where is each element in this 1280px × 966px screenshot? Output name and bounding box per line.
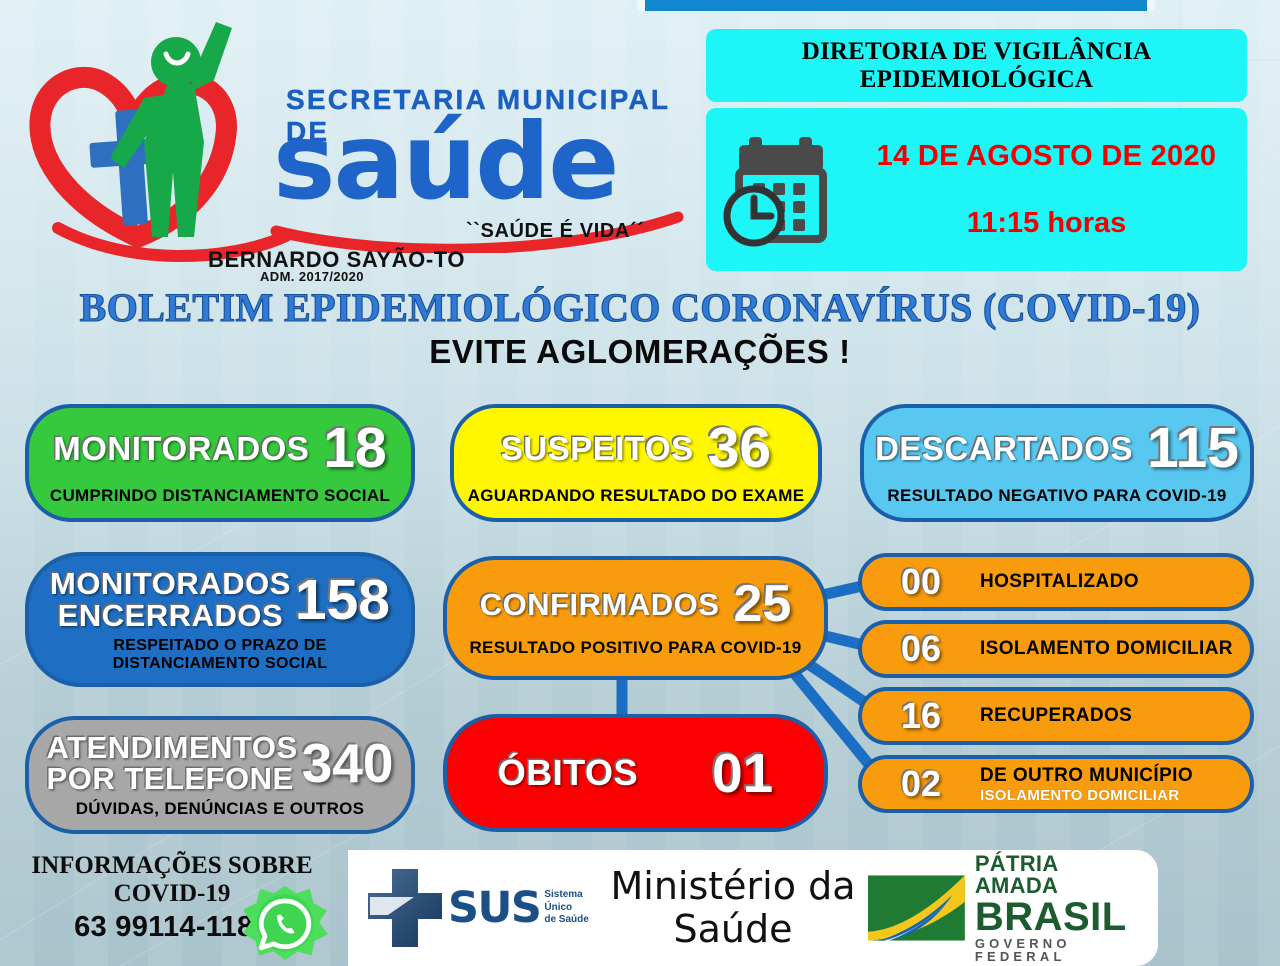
atendimentos-value: 340 <box>302 731 394 795</box>
breakdown-pill-outro-municipio[interactable]: 02 DE OUTRO MUNICÍPIO ISOLAMENTO DOMICIL… <box>858 755 1254 813</box>
sus-cross-icon <box>366 867 444 949</box>
atendimentos-label-line1: ATENDIMENTOS <box>47 730 298 765</box>
breakdown-label-3: DE OUTRO MUNICÍPIO <box>980 765 1250 787</box>
directorate-text: DIRETORIA DE VIGILÂNCIA EPIDEMIOLÓGICA <box>706 38 1247 94</box>
confirmados-value: 25 <box>733 578 791 630</box>
whatsapp-icon[interactable] <box>236 882 334 962</box>
date-time-box: 14 DE AGOSTO DE 2020 11:15 horas <box>706 108 1247 271</box>
breakdown-pill-isolamento-domiciliar[interactable]: 06 ISOLAMENTO DOMICILIAR <box>858 620 1254 678</box>
breakdown-pill-hospitalizado[interactable]: 00 HOSPITALIZADO <box>858 553 1254 611</box>
sus-wordmark: SUS <box>448 883 540 933</box>
breakdown-label-2: RECUPERADOS <box>980 705 1250 727</box>
logo-saude-text: saúde <box>273 110 617 215</box>
atendimentos-label-line2: POR TELEFONE <box>47 761 294 796</box>
breakdown-pill-recuperados[interactable]: 16 RECUPERADOS <box>858 687 1254 745</box>
page-subtitle: EVITE AGLOMERAÇÕES ! <box>0 333 1280 371</box>
encerrados-value: 158 <box>295 567 390 633</box>
suspeitos-value: 36 <box>708 420 771 477</box>
atendimentos-sublabel: DÚVIDAS, DENÚNCIAS E OUTROS <box>39 799 401 818</box>
contact-line1: INFORMAÇÕES SOBRE <box>22 852 322 880</box>
descartados-label: DESCARTADOS <box>875 432 1133 465</box>
encerrados-label-line1: MONITORADOS <box>50 566 291 601</box>
confirmados-sublabel: RESULTADO POSITIVO PARA COVID-19 <box>457 638 814 657</box>
logo-administration: ADM. 2017/2020 <box>260 269 364 284</box>
bulletin-time: 11:15 horas <box>858 207 1235 240</box>
stat-card-monitorados[interactable]: MONITORADOS 18 CUMPRINDO DISTANCIAMENTO … <box>25 404 415 522</box>
confirmados-label: CONFIRMADOS <box>480 589 720 620</box>
breakdown-value-3: 02 <box>862 763 980 805</box>
footer-logos: SUS Sistema Único de Saúde Ministério da… <box>348 850 1158 966</box>
logo-slogan: ``SAÚDE É VIDA´´ <box>466 220 645 243</box>
breakdown-sublabel-3: ISOLAMENTO DOMICILIAR <box>980 787 1250 804</box>
breakdown-value-2: 16 <box>862 695 980 737</box>
obitos-value: 01 <box>712 746 773 801</box>
encerrados-sublabel-line2: DISTANCIAMENTO SOCIAL <box>113 655 328 672</box>
encerrados-sublabel-line1: RESPEITADO O PRAZO DE <box>113 637 326 654</box>
brasil-line3: GOVERNO FEDERAL <box>975 937 1146 963</box>
ministry-of-health-text: Ministério da Saúde <box>598 865 868 950</box>
sus-sub-line1: Sistema <box>544 889 588 902</box>
descartados-sublabel: RESULTADO NEGATIVO PARA COVID-19 <box>874 486 1240 505</box>
obitos-label: ÓBITOS <box>498 755 638 791</box>
stat-card-atendimentos[interactable]: ATENDIMENTOS POR TELEFONE 340 DÚVIDAS, D… <box>25 716 415 834</box>
sus-sub-line2: Único <box>544 902 588 915</box>
directorate-box: DIRETORIA DE VIGILÂNCIA EPIDEMIOLÓGICA <box>706 29 1247 102</box>
calendar-clock-icon <box>706 131 858 249</box>
breakdown-value-1: 06 <box>862 628 980 670</box>
monitorados-label: MONITORADOS <box>53 432 309 465</box>
governo-federal-logo: PÁTRIA AMADA BRASIL GOVERNO FEDERAL <box>868 853 1158 964</box>
descartados-value: 115 <box>1147 420 1239 477</box>
page-title: BOLETIM EPIDEMIOLÓGICO CORONAVÍRUS (COVI… <box>0 284 1280 331</box>
breakdown-label-1: ISOLAMENTO DOMICILIAR <box>980 638 1250 660</box>
secretaria-logo: SECRETARIA MUNICIPAL DE saúde ``SAÚDE É … <box>18 22 708 277</box>
ministry-line1: Ministério da <box>598 865 868 908</box>
brasil-line2: BRASIL <box>975 897 1146 938</box>
suspeitos-label: SUSPEITOS <box>501 432 694 465</box>
sus-sub-line3: de Saúde <box>544 914 588 927</box>
monitorados-value: 18 <box>323 420 386 477</box>
top-accent-bar <box>637 0 1155 11</box>
breakdown-value-0: 00 <box>862 561 980 603</box>
stat-card-monitorados-encerrados[interactable]: MONITORADOS ENCERRADOS 158 RESPEITADO O … <box>25 552 415 687</box>
stat-card-descartados[interactable]: DESCARTADOS 115 RESULTADO NEGATIVO PARA … <box>860 404 1254 522</box>
brasil-flag-icon <box>868 871 965 945</box>
breakdown-label-0: HOSPITALIZADO <box>980 571 1250 593</box>
monitorados-sublabel: CUMPRINDO DISTANCIAMENTO SOCIAL <box>39 486 401 505</box>
stat-card-obitos[interactable]: ÓBITOS 01 <box>443 714 828 832</box>
ministry-line2: Saúde <box>598 908 868 951</box>
bulletin-date: 14 DE AGOSTO DE 2020 <box>858 140 1235 173</box>
brasil-line1: PÁTRIA AMADA <box>975 853 1146 897</box>
sus-logo: SUS Sistema Único de Saúde <box>348 867 598 949</box>
encerrados-label-line2: ENCERRADOS <box>58 598 283 633</box>
suspeitos-sublabel: AGUARDANDO RESULTADO DO EXAME <box>464 486 808 505</box>
stat-card-suspeitos[interactable]: SUSPEITOS 36 AGUARDANDO RESULTADO DO EXA… <box>450 404 822 522</box>
stat-card-confirmados[interactable]: CONFIRMADOS 25 RESULTADO POSITIVO PARA C… <box>443 556 828 680</box>
